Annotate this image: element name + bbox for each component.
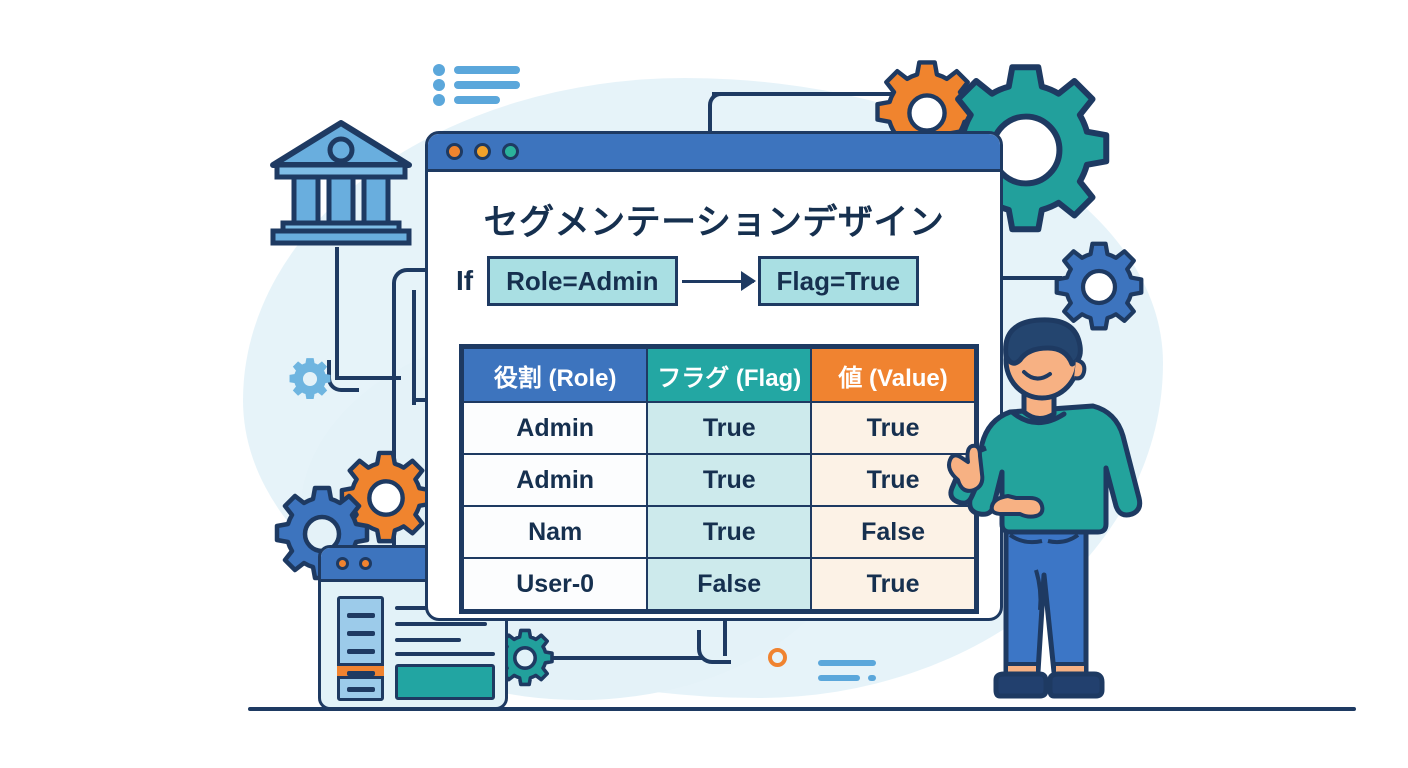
cell-flag: True	[647, 454, 811, 506]
close-dot-icon[interactable]	[446, 143, 463, 160]
mini-sidebar-active-item	[337, 663, 384, 679]
gear-icon	[288, 357, 332, 401]
mini-text-line	[395, 638, 461, 642]
connector-top-corner	[708, 92, 738, 122]
bullet-list-icon	[432, 63, 524, 107]
mini-text-line	[395, 622, 487, 626]
table-header-row: 役割 (Role) フラグ (Flag) 値 (Value)	[463, 348, 975, 402]
cell-flag: True	[647, 402, 811, 454]
decor-line	[818, 675, 860, 681]
mini-sidebar-row	[347, 687, 375, 692]
mini-sidebar-row	[347, 671, 375, 676]
mini-dot	[336, 557, 349, 570]
mini-sidebar-row	[347, 649, 375, 654]
cell-flag: False	[647, 558, 811, 610]
column-header-role[interactable]: 役割 (Role)	[463, 348, 647, 402]
cell-role: User-0	[463, 558, 647, 610]
table-row[interactable]: Admin True True	[463, 402, 975, 454]
flow-arrow-icon	[682, 280, 754, 283]
connector-if-elbow	[392, 268, 426, 302]
minimize-dot-icon[interactable]	[474, 143, 491, 160]
mini-content-block	[395, 664, 495, 700]
if-label: If	[456, 265, 473, 297]
circle-outline-icon	[768, 648, 787, 667]
condition-chip-role[interactable]: Role=Admin	[487, 256, 677, 306]
table-row[interactable]: Nam True False	[463, 506, 975, 558]
main-window: セグメンテーションデザイン If Role=Admin Flag=True 役割…	[425, 131, 1003, 621]
decor-dot	[868, 675, 876, 681]
connector-left-spine	[412, 290, 416, 405]
cell-role: Admin	[463, 402, 647, 454]
mini-text-line	[395, 652, 495, 656]
mini-sidebar-row	[347, 631, 375, 636]
illustration-canvas: セグメンテーションデザイン If Role=Admin Flag=True 役割…	[0, 0, 1408, 768]
condition-chip-flag[interactable]: Flag=True	[758, 256, 920, 306]
mini-sidebar	[337, 596, 384, 701]
mini-sidebar-row	[347, 613, 375, 618]
mini-dot	[359, 557, 372, 570]
connector-bottom-horizontal	[545, 656, 703, 660]
cell-flag: True	[647, 506, 811, 558]
cell-role: Admin	[463, 454, 647, 506]
column-header-flag[interactable]: フラグ (Flag)	[647, 348, 811, 402]
window-titlebar	[428, 134, 1000, 172]
table-row[interactable]: User-0 False True	[463, 558, 975, 610]
bank-building-icon	[267, 117, 415, 247]
person-pointing-illustration	[950, 320, 1180, 715]
segmentation-table: 役割 (Role) フラグ (Flag) 値 (Value) Admin Tru…	[459, 344, 979, 614]
page-title: セグメンテーションデザイン	[428, 194, 1000, 245]
table-row[interactable]: Admin True True	[463, 454, 975, 506]
condition-flow: If Role=Admin Flag=True	[456, 256, 1003, 306]
maximize-dot-icon[interactable]	[502, 143, 519, 160]
cell-role: Nam	[463, 506, 647, 558]
decor-line	[818, 660, 876, 666]
